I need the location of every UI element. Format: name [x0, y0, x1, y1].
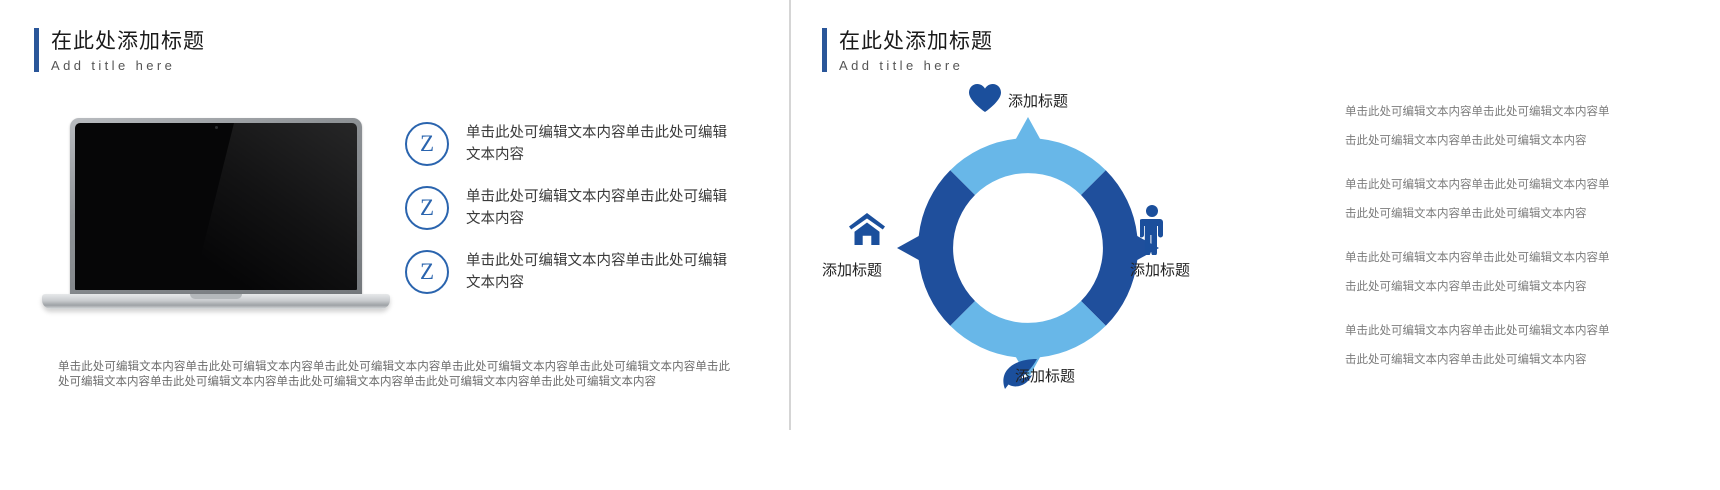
right-text-block: 单击此处可编辑文本内容单击此处可编辑文本内容单 击此处可编辑文本内容单击此处可编… [1345, 250, 1697, 295]
slide-divider [789, 0, 791, 430]
slide-canvas: 在此处添加标题 Add title here Z 单击此处可编辑文本内容单击此处… [0, 0, 1720, 490]
right-text-line: 击此处可编辑文本内容单击此处可编辑文本内容 [1345, 279, 1697, 295]
z-badge-icon: Z [405, 186, 449, 230]
right-text-line: 单击此处可编辑文本内容单击此处可编辑文本内容单 [1345, 177, 1697, 193]
cycle-segment-left[interactable] [897, 170, 975, 326]
page-title: 在此处添加标题 [51, 29, 205, 54]
cycle-label-left: 添加标题 [822, 259, 882, 280]
person-icon [1140, 205, 1164, 260]
page-subtitle: Add title here [839, 56, 993, 75]
list-item-label: 单击此处可编辑文本内容单击此处可编辑文本内容 [466, 250, 738, 294]
title-text-group: 在此处添加标题 Add title here [839, 28, 993, 75]
left-body-paragraph: 单击此处可编辑文本内容单击此处可编辑文本内容单击此处可编辑文本内容单击此处可编辑… [58, 360, 730, 390]
right-text-line: 击此处可编辑文本内容单击此处可编辑文本内容 [1345, 133, 1697, 149]
cycle-label-right: 添加标题 [1130, 259, 1190, 280]
list-item-label: 单击此处可编辑文本内容单击此处可编辑文本内容 [466, 122, 738, 166]
laptop-base [42, 294, 390, 309]
right-text-line: 击此处可编辑文本内容单击此处可编辑文本内容 [1345, 206, 1697, 222]
list-item[interactable]: Z 单击此处可编辑文本内容单击此处可编辑文本内容 [405, 122, 750, 166]
right-text-block: 单击此处可编辑文本内容单击此处可编辑文本内容单 击此处可编辑文本内容单击此处可编… [1345, 177, 1697, 222]
z-badge-icon: Z [405, 250, 449, 294]
list-item[interactable]: Z 单击此处可编辑文本内容单击此处可编辑文本内容 [405, 186, 750, 230]
cycle-label-top: 添加标题 [1008, 90, 1068, 111]
cycle-label-bottom: 添加标题 [1015, 365, 1075, 386]
list-item[interactable]: Z 单击此处可编辑文本内容单击此处可编辑文本内容 [405, 250, 750, 294]
z-badge-icon: Z [405, 122, 449, 166]
list-item-label: 单击此处可编辑文本内容单击此处可编辑文本内容 [466, 186, 738, 230]
right-title-block: 在此处添加标题 Add title here [822, 28, 993, 75]
right-text-block: 单击此处可编辑文本内容单击此处可编辑文本内容单 击此处可编辑文本内容单击此处可编… [1345, 104, 1697, 149]
laptop-lid [70, 118, 362, 296]
title-accent-bar [822, 28, 827, 72]
right-text-line: 单击此处可编辑文本内容单击此处可编辑文本内容单 [1345, 250, 1697, 266]
right-text-line: 击此处可编辑文本内容单击此处可编辑文本内容 [1345, 352, 1697, 368]
right-text-column: 单击此处可编辑文本内容单击此处可编辑文本内容单 击此处可编辑文本内容单击此处可编… [1345, 104, 1697, 368]
home-icon [848, 212, 886, 251]
title-text-group: 在此处添加标题 Add title here [51, 28, 205, 75]
laptop-camera-icon [215, 126, 218, 129]
cycle-segment-top[interactable] [950, 117, 1106, 195]
page-subtitle: Add title here [51, 56, 205, 75]
laptop-notch [190, 294, 242, 299]
right-text-line: 单击此处可编辑文本内容单击此处可编辑文本内容单 [1345, 323, 1697, 339]
heart-icon [968, 83, 1002, 118]
slide-left: 在此处添加标题 Add title here Z 单击此处可编辑文本内容单击此处… [0, 0, 780, 430]
feature-list: Z 单击此处可编辑文本内容单击此处可编辑文本内容 Z 单击此处可编辑文本内容单击… [405, 122, 750, 294]
title-accent-bar [34, 28, 39, 72]
laptop-image [42, 118, 390, 318]
page-title: 在此处添加标题 [839, 29, 993, 54]
laptop-screen [75, 123, 357, 290]
left-title-block: 在此处添加标题 Add title here [34, 28, 205, 75]
right-text-line: 单击此处可编辑文本内容单击此处可编辑文本内容单 [1345, 104, 1697, 120]
right-text-block: 单击此处可编辑文本内容单击此处可编辑文本内容单 击此处可编辑文本内容单击此处可编… [1345, 323, 1697, 368]
